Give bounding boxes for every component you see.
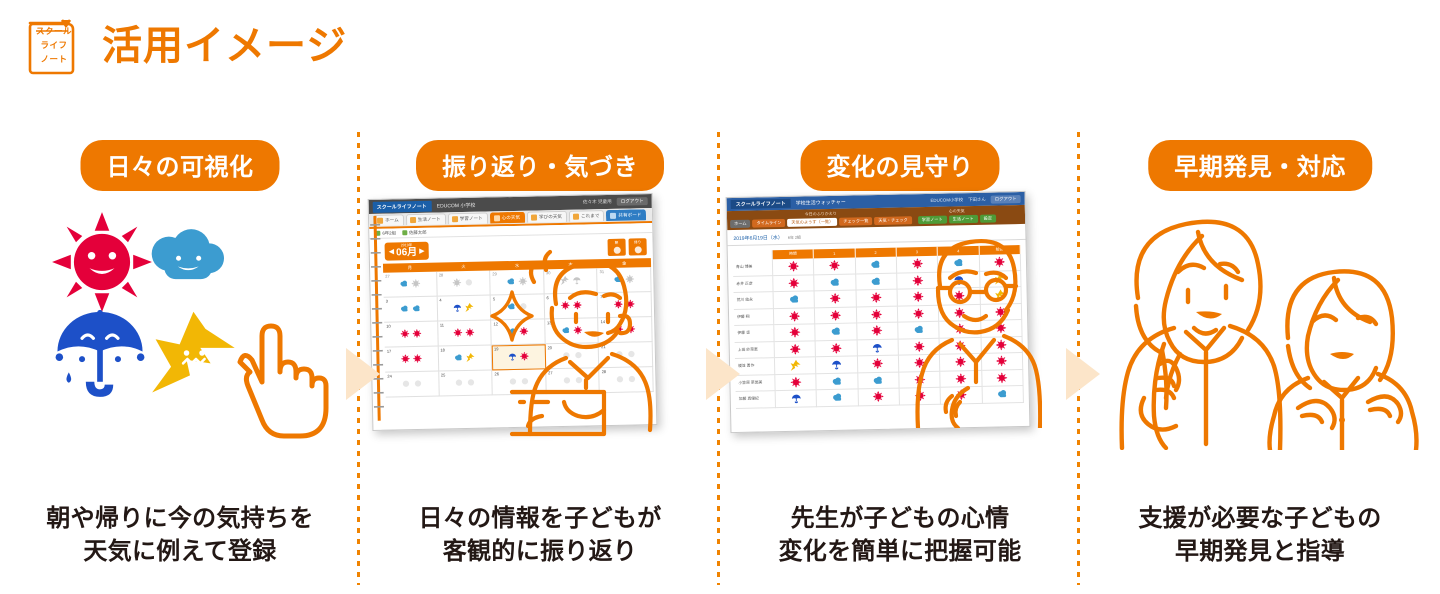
umbrella-rain-icon[interactable] <box>48 302 152 402</box>
caption-line: 日々の情報を子どもが <box>360 502 720 535</box>
logout-button[interactable]: ログアウト <box>617 197 648 206</box>
nav-group-2: 心の天気学習ノート生活ノート設定 <box>914 206 999 226</box>
weather-cell[interactable] <box>774 291 816 308</box>
cloud-icon <box>788 294 799 305</box>
cloud-icon <box>871 276 882 287</box>
caption-line: 支援が必要な子どもの <box>1080 502 1440 535</box>
day-weather-icons <box>438 327 491 337</box>
tab-label: 共有ボード <box>618 213 641 218</box>
sun-icon <box>401 354 410 363</box>
bolt-icon <box>790 360 801 371</box>
sun-icon <box>831 343 842 354</box>
subbar-label: 6年2組 <box>382 230 396 236</box>
calendar-day-cell[interactable]: 28 <box>437 270 491 296</box>
none-icon <box>467 378 476 387</box>
step-visual-3: スクールライフノート 学校生活ウォッチャー EDUCOM小学校 下田さん ログア… <box>720 200 1080 460</box>
subbar-item-2[interactable]: 佐藤太郎 <box>402 229 427 236</box>
bolt-icon <box>465 303 474 312</box>
watcher-topbar-right: EDUCOM小学校 下田さん ログアウト <box>930 194 1020 204</box>
weather-cell[interactable] <box>816 323 858 340</box>
month-picker[interactable]: ◀ 2019年 06月 ▶ <box>385 242 429 261</box>
step-caption-4: 支援が必要な子どもの 早期発見と指導 <box>1080 502 1440 568</box>
pointing-hand-cursor[interactable] <box>218 322 330 442</box>
day-weather-icons <box>438 352 491 362</box>
flow-arrow-1 <box>346 348 380 400</box>
sun-icon <box>453 278 462 287</box>
cloud-icon <box>873 375 884 386</box>
watcher-tab-4[interactable]: チェック一覧 <box>839 217 872 226</box>
student-name: 伊藤 翔 <box>734 309 774 326</box>
step-badge-1: 日々の可視化 <box>81 140 280 191</box>
calendar-day-cell[interactable]: 27 <box>383 272 437 298</box>
caption-line: 客観的に振り返り <box>360 535 720 568</box>
tab-icon <box>531 214 537 220</box>
sun-icon <box>454 328 463 337</box>
calendar-day-cell[interactable]: 3 <box>384 297 438 323</box>
step-caption-3: 先生が子どもの心情 変化を簡単に把握可能 <box>720 502 1080 568</box>
teacher-and-student-illustration <box>1102 202 1422 450</box>
step-column-3: 変化の見守り スクールライフノート 学校生活ウォッチャー EDUCOM小学校 下… <box>720 120 1080 590</box>
calendar-day-cell[interactable]: 10 <box>384 322 438 348</box>
student-name: 伊藤 凛 <box>734 325 774 342</box>
weather-cell[interactable] <box>817 389 859 406</box>
sun-icon <box>872 325 883 336</box>
calendar-day-cell[interactable]: 4 <box>437 295 491 321</box>
weather-cell[interactable] <box>815 290 857 307</box>
step-badge-4: 早期発見・対応 <box>1148 140 1372 191</box>
tab-label: 学びの天気 <box>539 215 562 220</box>
weather-cell[interactable] <box>815 307 857 324</box>
weather-cell[interactable] <box>858 372 900 389</box>
weather-cell[interactable] <box>858 389 900 406</box>
cloud-icon <box>829 277 840 288</box>
weather-cell[interactable] <box>773 275 815 292</box>
tab-icon <box>452 216 458 222</box>
watcher-user-name: 下田さん <box>968 196 986 202</box>
student-name: 加藤 真優紀 <box>736 391 776 408</box>
sun-icon <box>829 260 840 271</box>
sun-icon <box>788 261 799 272</box>
logo-line-1: スクール <box>36 26 72 37</box>
tab-label: ホーム <box>385 218 399 223</box>
umbrella-icon <box>831 359 842 370</box>
current-month: 2019年 06月 <box>396 244 417 258</box>
cloud-icon <box>830 326 841 337</box>
umbrella-icon <box>790 393 801 404</box>
watcher-tab-1[interactable]: ホーム <box>730 219 751 228</box>
sun-icon <box>788 277 799 288</box>
step-visual-2: スクールライフノート EDUCOM 小学校 佐々木 児童用 ログアウト ホーム生… <box>360 200 720 460</box>
day-weather-icons <box>437 302 490 312</box>
sun-icon <box>413 354 422 363</box>
caption-line: 天気に例えて登録 <box>0 535 360 568</box>
umbrella-icon <box>872 342 883 353</box>
sparkle-icon <box>488 290 536 342</box>
calendar-day-cell[interactable]: 24 <box>385 372 439 398</box>
day-weather-icons <box>385 354 438 364</box>
bolt-icon <box>466 353 475 362</box>
subbar-icon <box>402 230 407 235</box>
student-name: 赤井 正彦 <box>733 276 773 293</box>
watcher-tab-5[interactable]: 天気・チェック <box>874 216 911 225</box>
app-tab-6[interactable]: これまで <box>569 210 605 222</box>
page-header: スクール ライフ ノート 活用イメージ <box>24 14 347 78</box>
app-topbar-right: 佐々木 児童用 ログアウト <box>583 197 648 206</box>
watcher-class: 6年 2組 <box>788 236 801 241</box>
day-weather-icons <box>439 377 492 387</box>
caption-line: 変化を簡単に把握可能 <box>720 535 1080 568</box>
cloud-icon <box>831 376 842 387</box>
app-tab-7[interactable]: 共有ボード <box>606 209 646 221</box>
cloud-icon[interactable] <box>145 228 227 290</box>
weather-cell[interactable] <box>857 323 899 340</box>
student-name: 小笠原 菜悠美 <box>735 375 775 392</box>
step-visual-1 <box>0 200 360 460</box>
none-icon <box>413 379 422 388</box>
none-icon <box>465 278 474 287</box>
none-icon <box>455 378 464 387</box>
weather-cell[interactable] <box>816 340 858 357</box>
weather-cell[interactable] <box>817 373 859 390</box>
calendar-day-cell[interactable]: 18 <box>438 345 492 371</box>
sun-icon[interactable] <box>50 210 154 314</box>
day-weather-icons <box>383 279 436 289</box>
weather-cell[interactable] <box>775 374 817 391</box>
app-tab-2[interactable]: 生活ノート <box>406 213 446 225</box>
logo-line-2: ライフ <box>40 40 67 51</box>
weather-cell[interactable] <box>857 339 899 356</box>
nav-tabs-group-2: 学習ノート生活ノート設定 <box>915 214 999 226</box>
step-badge-3: 変化の見守り <box>801 140 1000 191</box>
logout-button[interactable]: ログアウト <box>991 194 1021 203</box>
caption-line: 早期発見と指導 <box>1080 535 1440 568</box>
step-badge-2: 振り返り・気づき <box>416 140 664 191</box>
app-tab-3[interactable]: 学習ノート <box>448 213 488 225</box>
current-month-label: 06月 <box>396 248 417 258</box>
tab-label: 学習ノート <box>460 216 483 221</box>
watcher-tab-6[interactable]: 学習ノート <box>918 215 947 224</box>
weather-cell[interactable] <box>856 290 898 307</box>
caption-line: 先生が子どもの心情 <box>720 502 1080 535</box>
calendar-day-cell[interactable]: 25 <box>439 370 493 396</box>
weather-cell[interactable] <box>814 257 856 274</box>
tab-icon <box>610 213 616 219</box>
sun-icon <box>412 329 421 338</box>
weather-icon-group <box>40 210 330 440</box>
none-icon <box>401 379 410 388</box>
prev-month-button[interactable]: ◀ <box>389 248 395 255</box>
step-visual-4 <box>1080 200 1440 460</box>
watcher-date: 2019年6月19日（水） <box>733 234 783 242</box>
steps-row: 日々の可視化 <box>0 120 1440 590</box>
watcher-tab-7[interactable]: 生活ノート <box>949 215 978 224</box>
sun-icon <box>400 329 409 338</box>
sun-icon <box>871 292 882 303</box>
student-name: 青山 博美 <box>733 259 773 276</box>
logo-line-3: ノート <box>40 54 67 65</box>
step-caption-1: 朝や帰りに今の気持ちを 天気に例えて登録 <box>0 502 360 568</box>
watcher-school-name: EDUCOM小学校 <box>930 197 963 204</box>
day-weather-icons <box>437 277 490 287</box>
cloud-icon <box>454 353 463 362</box>
next-month-button[interactable]: ▶ <box>419 247 425 254</box>
step-column-4: 早期発見・対応 <box>1080 120 1440 590</box>
weather-cell[interactable] <box>857 306 899 323</box>
calendar-day-cell[interactable]: 11 <box>438 320 492 346</box>
app-brand: スクールライフノート <box>373 200 432 212</box>
watcher-title: 学校生活ウォッチャー <box>796 199 846 207</box>
sun-icon <box>789 310 800 321</box>
cloud-icon <box>400 304 409 313</box>
weather-cell[interactable] <box>858 356 900 373</box>
tab-icon <box>573 214 579 220</box>
sun-icon <box>789 343 800 354</box>
watcher-tab-8[interactable]: 設定 <box>980 214 997 223</box>
cloud-icon <box>412 304 421 313</box>
cloud-icon <box>870 259 881 270</box>
caption-line: 朝や帰りに今の気持ちを <box>0 502 360 535</box>
cloud-icon <box>832 392 843 403</box>
sun-icon <box>790 376 801 387</box>
sun-icon <box>789 327 800 338</box>
weather-cell[interactable] <box>774 308 816 325</box>
tab-label: 心の天気 <box>502 216 520 221</box>
step-column-1: 日々の可視化 <box>0 120 360 590</box>
student-name: 榎並 勇作 <box>735 358 775 375</box>
sun-icon <box>830 310 841 321</box>
watcher-tab-2[interactable]: タイムライン <box>752 219 785 228</box>
sun-icon <box>830 293 841 304</box>
tab-label: 生活ノート <box>418 217 441 222</box>
flow-arrow-2 <box>706 348 740 400</box>
weather-cell[interactable] <box>776 390 818 407</box>
student-name: 荒川 紘永 <box>734 292 774 309</box>
step-caption-2: 日々の情報を子どもが 客観的に振り返り <box>360 502 720 568</box>
watcher-tab-3[interactable]: 天気のようす（一覧） <box>787 218 837 227</box>
day-weather-icons <box>384 329 437 339</box>
calendar-day-cell[interactable]: 17 <box>385 347 439 373</box>
logo-text-lines: スクール ライフ ノート <box>34 26 74 65</box>
subbar-label: 佐藤太郎 <box>409 229 427 235</box>
day-weather-icons <box>385 379 438 389</box>
tab-label: これまで <box>581 214 599 219</box>
app-tab-4[interactable]: 心の天気 <box>490 212 526 224</box>
day-weather-icons <box>384 304 437 314</box>
watcher-brand: スクールライフノート <box>731 199 791 209</box>
sun-icon <box>466 328 475 337</box>
tab-icon <box>410 217 416 223</box>
app-user-name: 佐々木 児童用 <box>583 199 612 206</box>
weather-cell[interactable] <box>775 357 817 374</box>
weather-cell[interactable] <box>856 273 898 290</box>
cloud-icon <box>399 279 408 288</box>
sun-icon <box>871 309 882 320</box>
teacher-illustration <box>910 228 1042 428</box>
sun-icon <box>873 391 884 402</box>
step-column-2: 振り返り・気づき スクールライフノート EDUCOM 小学校 佐々木 児童用 ロ… <box>360 120 720 590</box>
sun-icon <box>872 358 883 369</box>
weather-cell[interactable] <box>773 258 815 275</box>
page-title: 活用イメージ <box>102 26 347 66</box>
activity-image-infographic: スクール ライフ ノート 活用イメージ 日々の可視化 <box>0 0 1440 594</box>
sun-icon <box>411 279 420 288</box>
student-name: 上田 紗菜恵 <box>735 342 775 359</box>
weather-cell[interactable] <box>816 356 858 373</box>
notebook-icon: スクール ライフ ノート <box>24 14 84 78</box>
weather-cell[interactable] <box>774 324 816 341</box>
app-school-name: EDUCOM 小学校 <box>437 201 476 209</box>
weather-cell[interactable] <box>856 257 898 274</box>
tab-icon <box>494 215 500 221</box>
weather-cell[interactable] <box>815 274 857 291</box>
app-tab-5[interactable]: 学びの天気 <box>527 211 567 223</box>
weather-cell[interactable] <box>775 341 817 358</box>
umbrella-icon <box>453 303 462 312</box>
flow-arrow-3 <box>1066 348 1100 400</box>
